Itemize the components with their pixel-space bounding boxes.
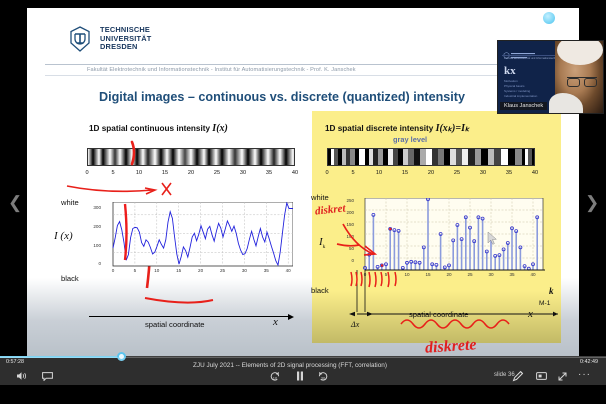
continuous-heading-math: I(x) xyxy=(212,123,228,134)
continuous-plot: 0510 152025 303540 3002001000 xyxy=(103,202,293,278)
header-divider-bottom xyxy=(45,75,561,76)
pause-icon[interactable] xyxy=(296,371,304,384)
tu-dresden-logo-icon xyxy=(67,26,93,52)
discrete-delta-x-label: Δx xyxy=(351,320,359,329)
presenter-glasses xyxy=(567,77,597,85)
discrete-x-symbol: x xyxy=(528,308,533,320)
svg-text:30: 30 xyxy=(321,375,326,380)
continuous-heading-text: 1D spatial continuous intensity xyxy=(89,124,212,133)
header-divider-top xyxy=(45,64,561,65)
screen-share-icon[interactable] xyxy=(536,372,547,383)
video-slide-bullets: Motivation Physical basics Systems / mod… xyxy=(504,79,537,99)
pen-icon[interactable] xyxy=(512,370,524,385)
discrete-x-caption: spatial coordinate xyxy=(409,310,469,319)
caption-text: ZJU July 2021 -- Elements of 2D signal p… xyxy=(90,362,490,369)
presenter-hair xyxy=(557,40,603,65)
continuous-white-label: white xyxy=(61,198,79,207)
presenter-name-tag: Klaus Janschek xyxy=(500,102,547,110)
discrete-heading-math: I(xₖ)=Iₖ xyxy=(436,123,470,134)
presenter-shirt xyxy=(549,93,583,114)
slide-title: Digital images – continuous vs. discrete… xyxy=(99,90,465,104)
continuous-x-symbol: x xyxy=(273,316,278,328)
gray-level-label: gray level xyxy=(393,135,427,144)
discrete-k-symbol: k xyxy=(549,286,554,296)
discrete-plot-yticks: 250200150100500 xyxy=(344,195,354,267)
remaining-time: 0:42:49 xyxy=(580,359,598,365)
video-tu-dresden-logo-icon xyxy=(503,46,537,52)
tu-dresden-logo: TECHNISCHE UNIVERSITÄT DRESDEN xyxy=(67,26,151,52)
presenter-face xyxy=(555,41,603,113)
discrete-plot: 0510 152025 303540 250200150100500 xyxy=(355,198,545,288)
slide-player: TECHNISCHE UNIVERSITÄT DRESDEN Fakultät … xyxy=(0,0,606,404)
pointer-highlight-dot xyxy=(543,12,555,24)
discrete-m-minus-1: M-1 xyxy=(539,300,550,307)
video-slide-big-text: kx xyxy=(504,65,516,77)
discrete-black-label: black xyxy=(311,286,329,295)
continuous-plot-yticks: 3002001000 xyxy=(92,199,101,274)
continuous-black-label: black xyxy=(61,274,79,283)
presenter-video[interactable]: Fakultät Elektrotechnik und Informations… xyxy=(497,40,604,114)
discrete-heading-text: 1D spatial discrete intensity xyxy=(325,124,436,133)
discrete-y-axis-label: Ik xyxy=(319,236,325,250)
svg-text:10: 10 xyxy=(273,375,278,380)
forward-30-icon[interactable]: 30 xyxy=(318,371,328,384)
elapsed-time: 0:57:28 xyxy=(6,359,24,365)
discrete-white-label: white xyxy=(311,193,329,202)
more-options-icon[interactable]: ··· xyxy=(578,370,591,380)
speaker-icon[interactable] xyxy=(16,371,27,384)
discrete-panel-heading: 1D spatial discrete intensity I(xₖ)=Iₖ xyxy=(325,123,469,134)
continuous-y-axis-label: I (x) xyxy=(54,230,73,242)
chevron-right-icon[interactable]: ❯ xyxy=(585,194,599,211)
continuous-x-axis-arrow xyxy=(89,316,289,317)
expand-icon[interactable] xyxy=(557,371,568,384)
discrete-gray-strip xyxy=(327,148,535,166)
continuous-panel-heading: 1D spatial continuous intensity I(x) xyxy=(89,123,228,134)
tu-dresden-wordmark: TECHNISCHE UNIVERSITÄT DRESDEN xyxy=(100,26,151,51)
chevron-left-icon[interactable]: ❮ xyxy=(8,194,22,211)
chat-bubble-icon[interactable] xyxy=(42,372,53,384)
university-line-3: DRESDEN xyxy=(100,43,151,51)
continuous-gray-strip xyxy=(87,148,295,166)
continuous-x-caption: spatial coordinate xyxy=(145,320,205,329)
department-line: Fakultät Elektrotechnik und Informations… xyxy=(87,67,356,73)
rewind-10-icon[interactable]: 10 xyxy=(270,371,280,384)
